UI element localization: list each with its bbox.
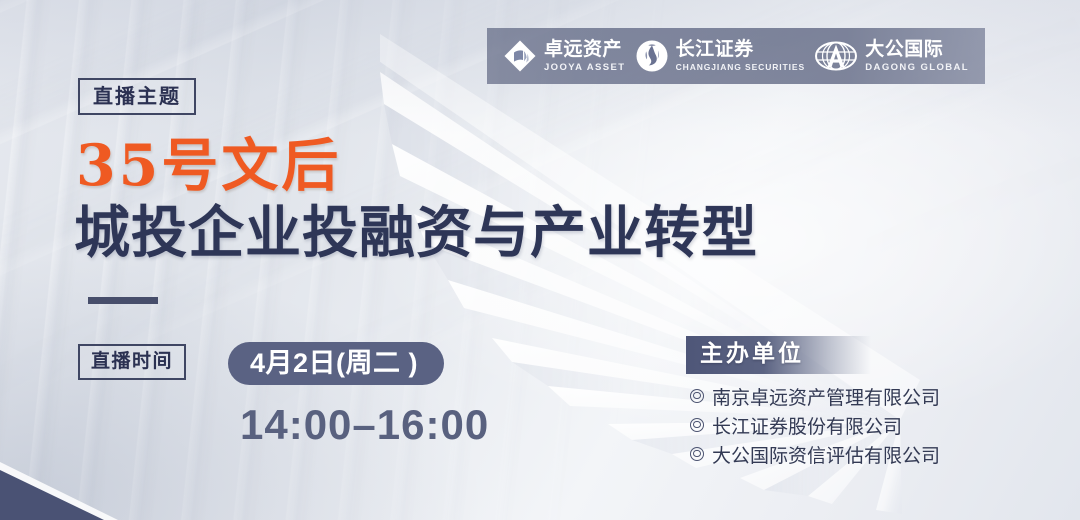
- ring-bullet-icon: [690, 389, 704, 403]
- organizer-name: 长江证券股份有限公司: [712, 414, 902, 443]
- organizers-heading: 主办单位: [686, 336, 871, 374]
- headline-main-title: 城投企业投融资与产业转型: [74, 203, 758, 263]
- logo-changjiang-securities-en: CHANGJIANG SECURITIES: [676, 63, 805, 72]
- list-item: 南京卓远资产管理有限公司: [690, 385, 986, 414]
- topic-label-badge: 直播主题: [78, 78, 196, 115]
- organizer-name: 大公国际资信评估有限公司: [712, 443, 940, 472]
- organizer-name: 南京卓远资产管理有限公司: [712, 385, 940, 414]
- logo-changjiang-securities: 长江证券 CHANGJIANG SECURITIES: [635, 36, 805, 76]
- organizers-panel: 主办单位 南京卓远资产管理有限公司 长江证券股份有限公司 大公国际资信评估有限公…: [686, 336, 986, 471]
- logo-dagong-global-en: DAGONG GLOBAL: [865, 63, 969, 73]
- list-item: 长江证券股份有限公司: [690, 414, 986, 443]
- live-stream-poster: 卓远资产 JOOYA ASSET 长江证券 CHANGJIANG SECURIT…: [0, 0, 1080, 520]
- logo-dagong-global-cn: 大公国际: [865, 40, 969, 59]
- date-badge: 4月2日(周二 ): [228, 342, 444, 385]
- logo-changjiang-securities-cn: 长江证券: [676, 40, 805, 59]
- logo-jooya-asset-en: JOOYA ASSET: [544, 63, 625, 73]
- logo-jooya-asset: 卓远资产 JOOYA ASSET: [503, 36, 625, 76]
- jooya-diamond-book-icon: [503, 39, 537, 73]
- time-label-badge: 直播时间: [78, 344, 186, 380]
- ring-bullet-icon: [690, 447, 704, 461]
- logo-dagong-global-text: 大公国际 DAGONG GLOBAL: [865, 40, 969, 73]
- changjiang-circle-flame-icon: [635, 39, 669, 73]
- logo-jooya-asset-text: 卓远资产 JOOYA ASSET: [544, 40, 625, 73]
- logo-dagong-global: 大公国际 DAGONG GLOBAL: [814, 36, 969, 76]
- logo-jooya-asset-cn: 卓远资产: [544, 40, 625, 59]
- corner-wedge-decoration: [0, 448, 118, 520]
- list-item: 大公国际资信评估有限公司: [690, 443, 986, 472]
- time-range-text: 14:00–16:00: [240, 404, 489, 446]
- organizers-list: 南京卓远资产管理有限公司 长江证券股份有限公司 大公国际资信评估有限公司: [686, 385, 986, 472]
- partner-logo-bar: 卓远资产 JOOYA ASSET 长江证券 CHANGJIANG SECURIT…: [487, 28, 985, 84]
- ring-bullet-icon: [690, 418, 704, 432]
- headline-divider-rule: [88, 297, 158, 304]
- logo-changjiang-securities-text: 长江证券 CHANGJIANG SECURITIES: [676, 40, 805, 72]
- dagong-globe-monogram-icon: [814, 39, 858, 73]
- headline-accent-text: 35号文后: [76, 136, 341, 196]
